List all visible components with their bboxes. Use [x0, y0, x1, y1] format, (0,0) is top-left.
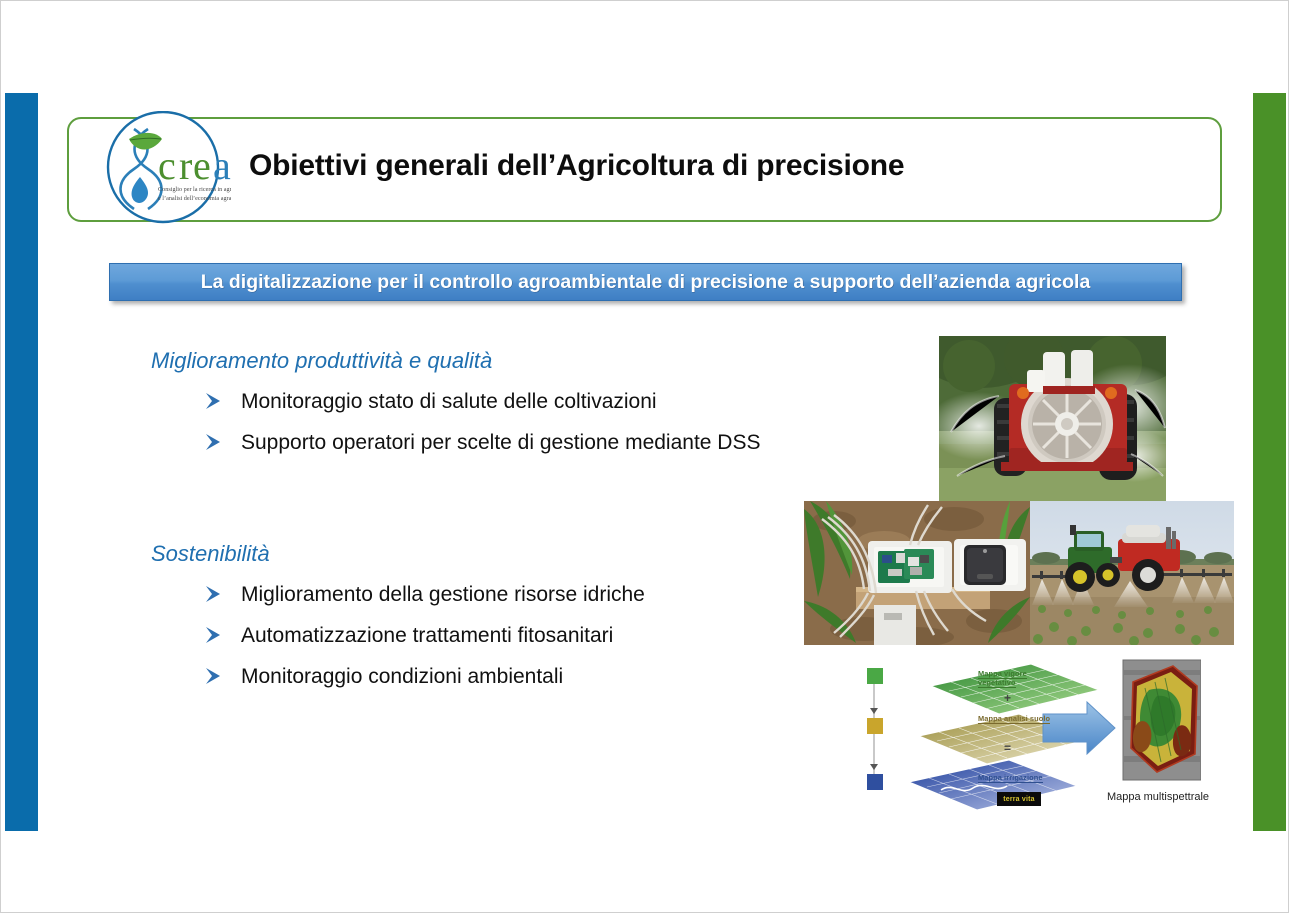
- svg-text:r: r: [179, 143, 192, 188]
- list-item: Monitoraggio stato di salute delle colti…: [151, 390, 760, 413]
- list-item-label: Monitoraggio stato di salute delle colti…: [241, 390, 657, 413]
- subtitle-banner: La digitalizzazione per il controllo agr…: [109, 263, 1182, 301]
- arrow-bullet-icon: [203, 391, 227, 411]
- list-item-label: Supporto operatori per scelte di gestion…: [241, 431, 760, 454]
- svg-text:e: e: [193, 143, 211, 188]
- list-item: Miglioramento della gestione risorse idr…: [151, 583, 645, 606]
- crea-logo: c r e a Consiglio per la ricerca in agri…: [96, 111, 231, 224]
- list-item-label: Monitoraggio condizioni ambientali: [241, 665, 563, 688]
- field-iot-sensor-box-photo: [804, 501, 1030, 645]
- arrow-bullet-icon: [203, 432, 227, 452]
- list-item-label: Miglioramento della gestione risorse idr…: [241, 583, 645, 606]
- list-item: Monitoraggio condizioni ambientali: [151, 665, 645, 688]
- terra-vita-logo-text: terra vita: [1003, 796, 1035, 803]
- tractor-boom-sprayer-photo: [1030, 501, 1234, 645]
- orchard-mist-blower-sprayer-photo: [939, 336, 1166, 501]
- layer-label-vegetation-line2: vegetativo: [978, 678, 1016, 688]
- arrow-bullet-icon: [203, 666, 227, 686]
- section-sustainability: Sostenibilità Miglioramento della gestio…: [151, 541, 645, 688]
- operator-plus: +: [1004, 691, 1011, 705]
- svg-text:e l’analisi dell’economia agra: e l’analisi dell’economia agraria: [158, 195, 231, 202]
- right-accent-bar: [1253, 93, 1286, 831]
- list-item-label: Automatizzazione trattamenti fitosanitar…: [241, 624, 613, 647]
- multispectral-map-caption: Mappa multispettrale: [1088, 791, 1228, 803]
- page-title: Obiettivi generali dell’Agricoltura di p…: [249, 149, 1149, 183]
- terra-vita-logo: terra vita: [997, 792, 1041, 806]
- layer-label-irrigation: Mappa irrigazione: [978, 773, 1043, 783]
- bullet-list: Monitoraggio stato di salute delle colti…: [151, 390, 760, 454]
- section-productivity: Miglioramento produttività e qualità Mon…: [151, 348, 760, 454]
- left-accent-bar: [5, 93, 38, 831]
- section-heading: Miglioramento produttività e qualità: [151, 348, 760, 374]
- layer-label-soil: Mappa analisi suolo: [978, 714, 1050, 724]
- subtitle-banner-text: La digitalizzazione per il controllo agr…: [201, 271, 1091, 294]
- svg-text:a: a: [213, 143, 231, 188]
- list-item: Automatizzazione trattamenti fitosanitar…: [151, 624, 645, 647]
- bullet-list: Miglioramento della gestione risorse idr…: [151, 583, 645, 688]
- operator-equals: =: [1004, 741, 1011, 755]
- arrow-bullet-icon: [203, 584, 227, 604]
- list-item: Supporto operatori per scelte di gestion…: [151, 431, 760, 454]
- presentation-slide: c r e a Consiglio per la ricerca in agri…: [0, 0, 1289, 913]
- svg-text:Consiglio per la ricerca in ag: Consiglio per la ricerca in agricoltura: [158, 186, 231, 193]
- svg-text:c: c: [158, 143, 176, 188]
- section-heading: Sostenibilità: [151, 541, 645, 567]
- arrow-bullet-icon: [203, 625, 227, 645]
